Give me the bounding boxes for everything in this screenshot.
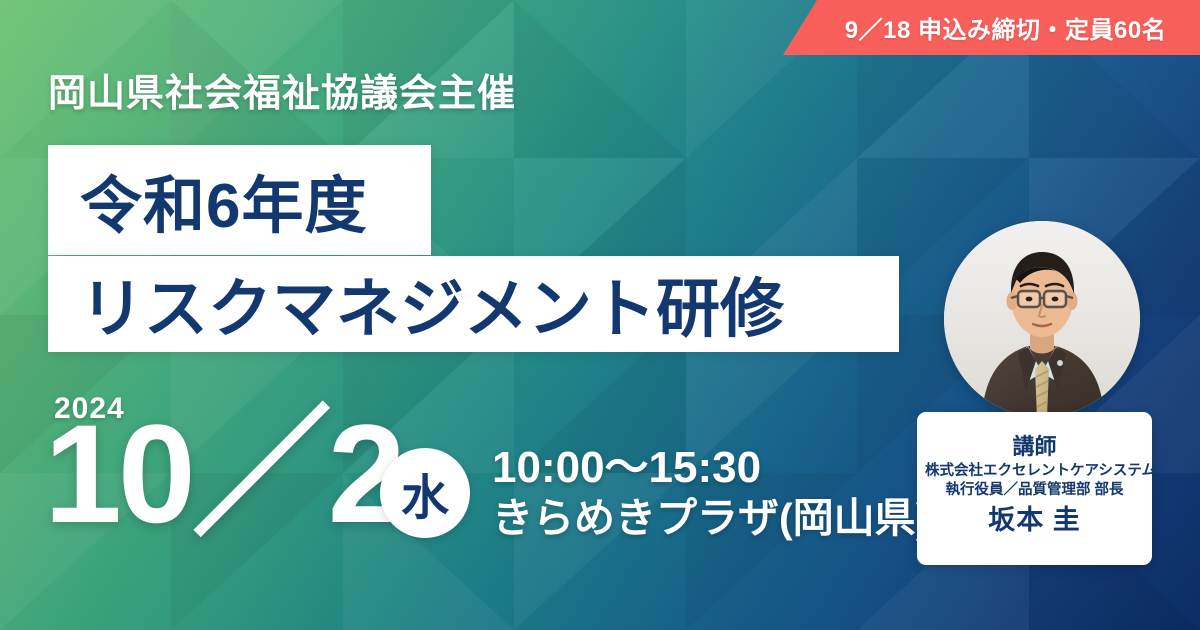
speaker-role: 講師 — [925, 434, 1144, 459]
speaker-organization: 株式会社エクセレントケアシステム — [925, 462, 1144, 481]
event-details: 10:00〜15:30 きらめきプラザ(岡山県) — [492, 443, 929, 543]
title-line-1-text: 令和6年度 — [80, 155, 367, 245]
event-time: 10:00〜15:30 — [492, 443, 929, 494]
speaker-job-title: 執行役員／品質管理部 部長 — [925, 481, 1144, 500]
host-organization: 岡山県社会福祉協議会主催 — [48, 62, 516, 117]
title-line-2-box: リスクマネジメント研修 — [48, 256, 899, 352]
title-line-1-box: 令和6年度 — [48, 145, 431, 255]
day-of-week-badge: 水 — [380, 448, 470, 538]
speaker-portrait-illustration — [944, 221, 1140, 417]
title-line-2-text: リスクマネジメント研修 — [80, 258, 784, 350]
speaker-info-card: 講師 株式会社エクセレントケアシステム 執行役員／品質管理部 部長 坂本 圭 — [917, 412, 1152, 565]
event-venue: きらめきプラザ(岡山県) — [492, 494, 929, 543]
speaker-name: 坂本 圭 — [925, 504, 1144, 536]
deadline-ribbon: 9／18 申込み締切・定員60名 — [783, 0, 1200, 55]
event-date: 10／2 — [44, 404, 402, 544]
event-poster: 9／18 申込み締切・定員60名 岡山県社会福祉協議会主催 令和6年度 リスクマ… — [0, 0, 1200, 630]
deadline-ribbon-text: 9／18 申込み締切・定員60名 — [845, 10, 1166, 45]
speaker-portrait-photo — [944, 221, 1140, 417]
